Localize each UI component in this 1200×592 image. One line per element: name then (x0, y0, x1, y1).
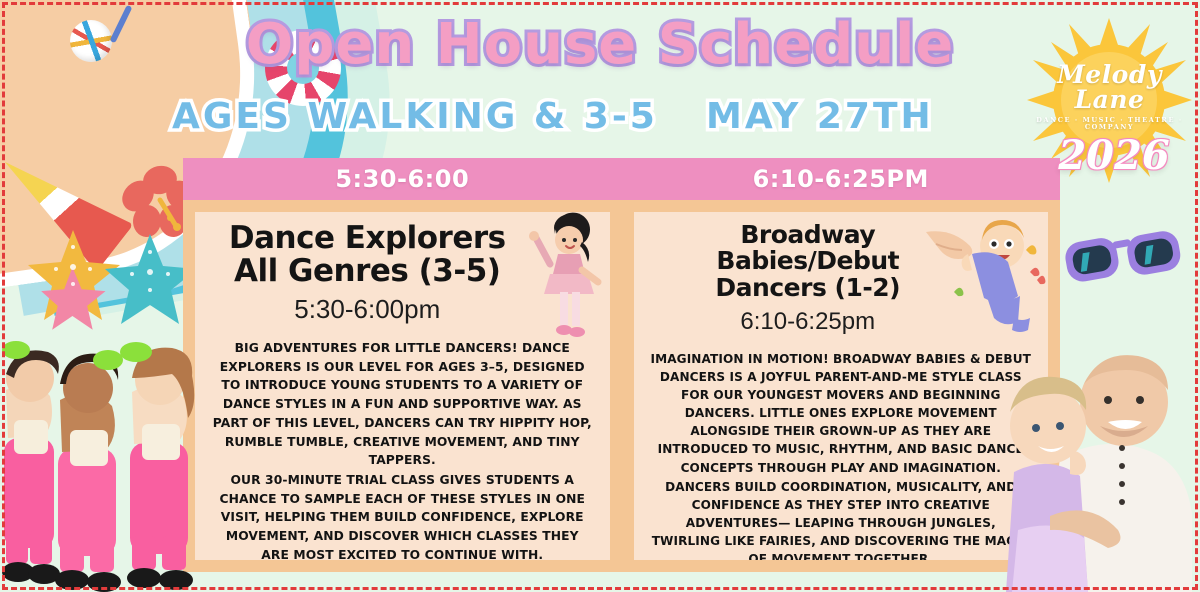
card-description: IMAGINATION IN MOTION! BROADWAY BABIES &… (650, 350, 1033, 560)
ballerina-girl-icon (520, 212, 606, 342)
card-title-line-1: Broadway Babies/Debut (716, 220, 899, 275)
starfish-group (28, 222, 208, 342)
baby-with-hand-icon (926, 214, 1046, 334)
open-house-poster: Melody Lane DANCE · MUSIC · THEATRE · CO… (0, 0, 1200, 592)
class-card-dance-explorers: Dance Explorers All Genres (3-5) 5:30-6:… (195, 212, 610, 560)
card-paragraph: DANCERS BUILD COORDINATION, MUSICALITY, … (650, 478, 1033, 560)
photo-three-young-dancers (0, 330, 205, 592)
class-card-broadway-babies: Broadway Babies/Debut Dancers (1-2) 6:10… (634, 212, 1049, 560)
card-title-line-2: Dancers (1-2) (715, 273, 900, 302)
time-slot-bar: 5:30-6:00 6:10-6:25PM (183, 158, 1060, 200)
photo-father-and-toddler (1000, 340, 1200, 592)
brand-tagline: DANCE · MUSIC · THEATRE · COMPANY (1027, 117, 1192, 130)
sunglasses-icon (1060, 222, 1190, 292)
card-paragraph: OUR 30-MINUTE TRIAL CLASS GIVES STUDENTS… (211, 471, 594, 560)
date-label: MAY 27TH (706, 96, 934, 137)
time-slot-2: 6:10-6:25PM (622, 165, 1061, 193)
card-title-line-2: All Genres (3-5) (234, 253, 500, 289)
schedule-board: Dance Explorers All Genres (3-5) 5:30-6:… (183, 200, 1060, 572)
brand-wordmark: Melody Lane DANCE · MUSIC · THEATRE · CO… (1027, 62, 1192, 130)
page-title: Open House Schedule (0, 12, 1200, 77)
card-description: BIG ADVENTURES FOR LITTLE DANCERS! DANCE… (211, 339, 594, 560)
subtitle-row: AGES WALKING & 3-5 MAY 27TH (0, 96, 1200, 148)
brand-line-2: Lane (1027, 87, 1192, 112)
brand-line-1: Melody (1027, 62, 1192, 87)
card-paragraph: IMAGINATION IN MOTION! BROADWAY BABIES &… (650, 350, 1033, 477)
ages-label: AGES WALKING & 3-5 (172, 96, 658, 137)
brand-year: 2026 (1034, 132, 1194, 179)
card-paragraph: BIG ADVENTURES FOR LITTLE DANCERS! DANCE… (211, 339, 594, 470)
time-slot-1: 5:30-6:00 (183, 165, 622, 193)
card-title-line-1: Dance Explorers (229, 220, 506, 256)
